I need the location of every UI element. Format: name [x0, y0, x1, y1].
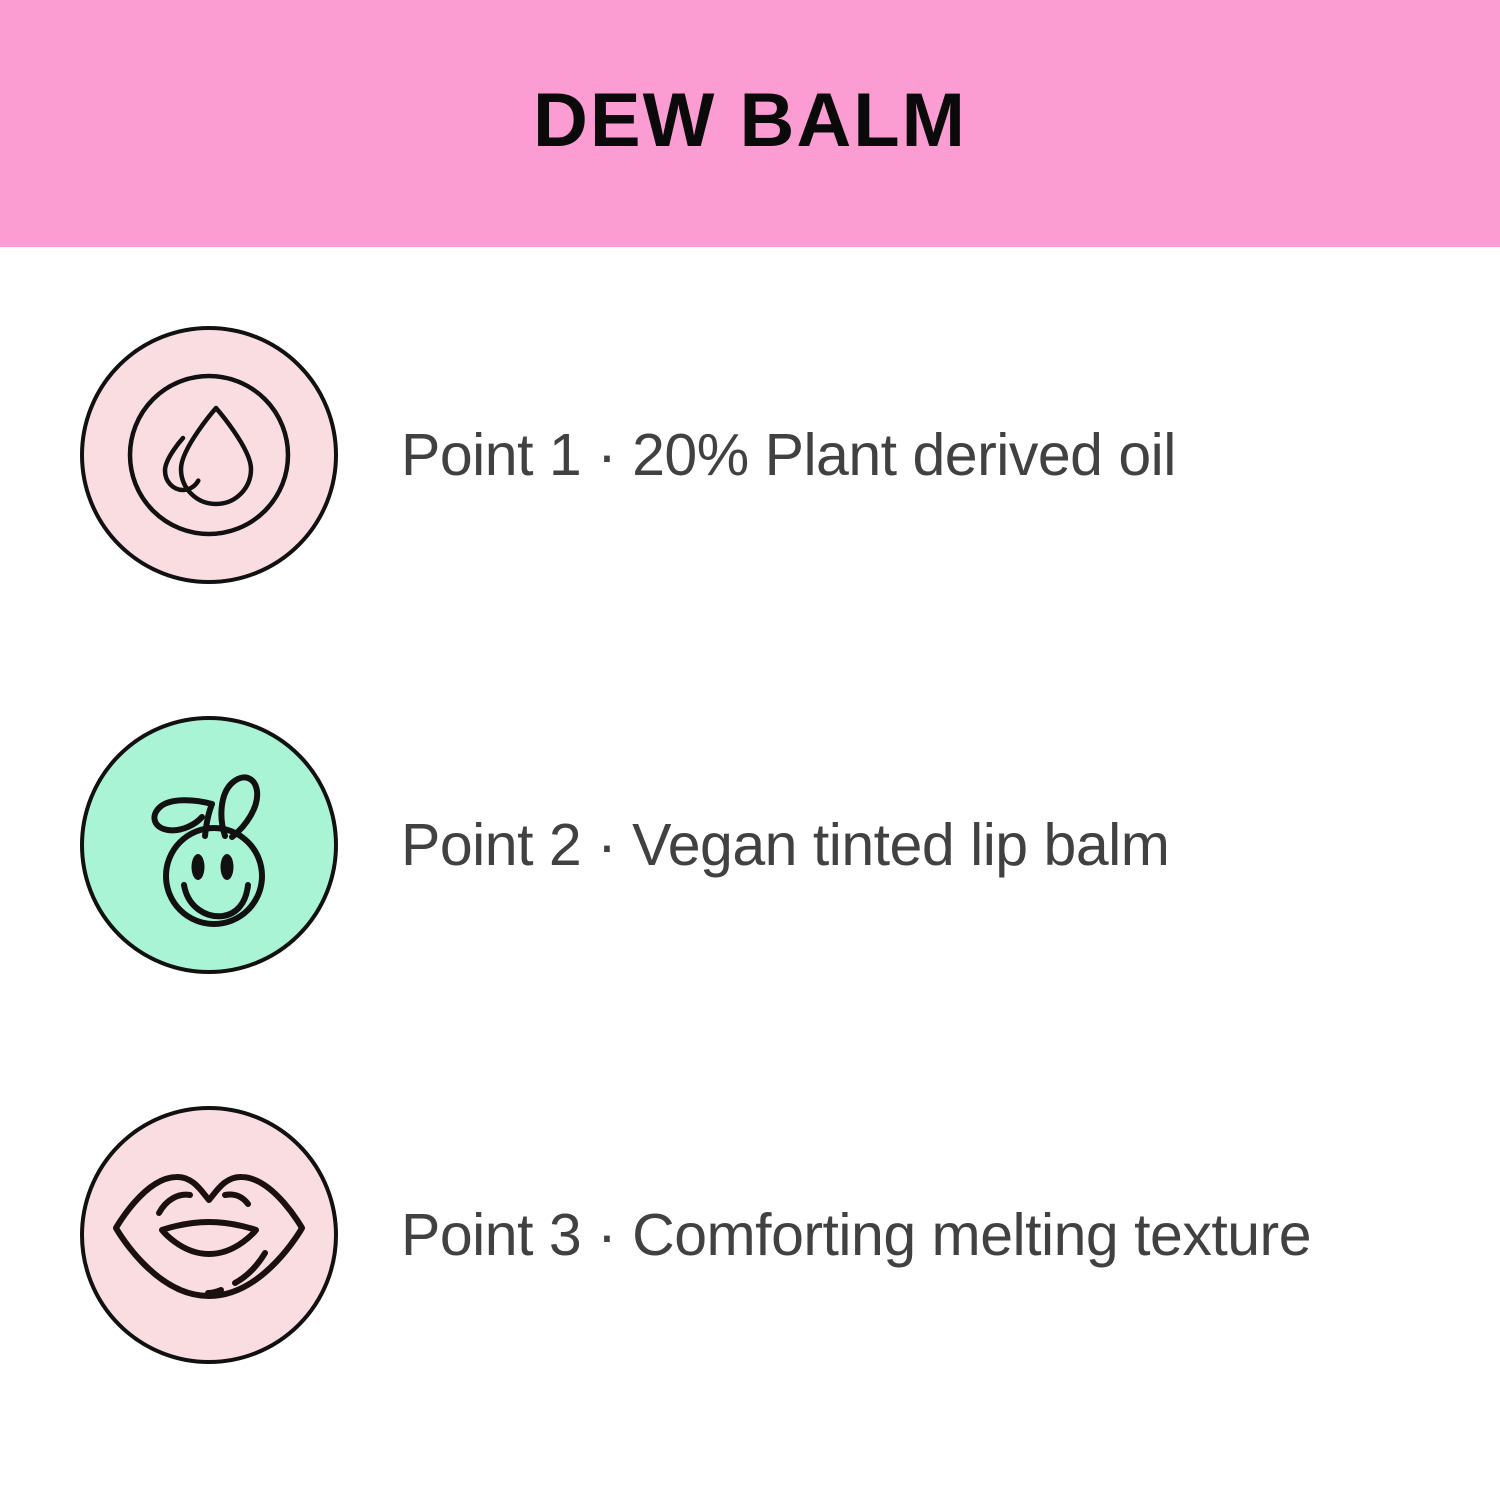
water-droplet-icon — [124, 370, 294, 540]
point-3-icon-badge — [80, 1106, 338, 1364]
page-title: DEW BALM — [533, 83, 967, 165]
header-banner: DEW BALM — [0, 0, 1500, 247]
points-list: Point 1 · 20% Plant derived oil — [0, 247, 1500, 1500]
product-points-infographic: DEW BALM Point 1 · 20% Plant derived oil — [0, 0, 1500, 1500]
point-1-label: Point 1 · 20% Plant derived oil — [401, 423, 1176, 488]
point-3-label: Point 3 · Comforting melting texture — [401, 1203, 1311, 1268]
list-item: Point 2 · Vegan tinted lip balm — [80, 715, 1480, 975]
lips-icon — [104, 1150, 314, 1320]
list-item: Point 1 · 20% Plant derived oil — [80, 325, 1480, 585]
point-2-label: Point 2 · Vegan tinted lip balm — [401, 813, 1169, 878]
point-2-icon-badge — [80, 716, 338, 974]
point-1-icon-badge — [80, 326, 338, 584]
bunny-smiley-icon — [122, 758, 297, 933]
list-item: Point 3 · Comforting melting texture — [80, 1105, 1480, 1365]
